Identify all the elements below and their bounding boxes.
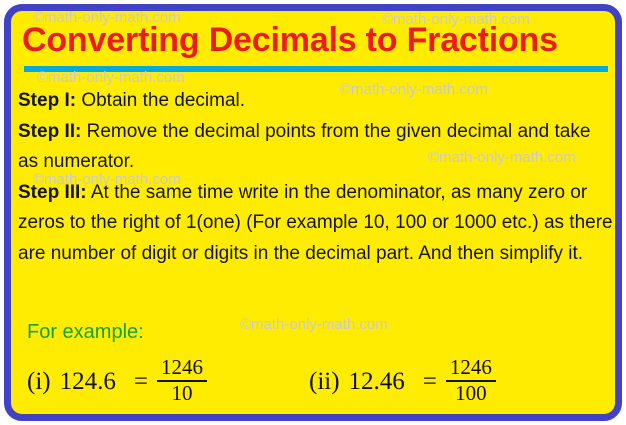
example-index: (ii) [309,368,340,396]
fraction-denominator: 100 [451,382,491,405]
card-content: Converting Decimals to Fractions Step I:… [0,0,626,425]
example-equals: = [414,368,446,396]
examples-row: (i) 124.6 = 1246 10 (ii) 12.46 = 1246 10… [24,358,604,414]
fraction-numerator: 1246 [157,357,207,380]
fraction: 1246 10 [157,357,207,405]
steps-list: Step I: Obtain the decimal. Step II: Rem… [18,86,614,269]
fraction-denominator: 10 [167,382,196,405]
fraction: 1246 100 [446,357,496,405]
example-item-1: (i) 124.6 = 1246 10 [27,358,207,406]
step-item: Step III: At the same time write in the … [18,178,614,270]
example-index: (i) [27,368,51,396]
example-item-2: (ii) 12.46 = 1246 100 [309,358,496,406]
image-canvas: Converting Decimals to Fractions Step I:… [0,0,626,425]
step-text: At the same time write in the denominato… [18,182,613,264]
example-decimal: 12.46 [340,368,414,396]
step-item: Step I: Obtain the decimal. [18,86,614,117]
step-label: Step III: [18,182,87,203]
example-decimal: 124.6 [51,368,125,396]
step-text: Obtain the decimal. [76,90,245,111]
page-title: Converting Decimals to Fractions [22,19,612,61]
for-example-heading: For example: [27,320,144,344]
step-text: Remove the decimal points from the given… [18,121,590,173]
step-item: Step II: Remove the decimal points from … [18,117,614,178]
example-equals: = [125,368,157,396]
step-label: Step I: [18,90,76,111]
step-label: Step II: [18,121,81,142]
fraction-numerator: 1246 [446,357,496,380]
title-divider [24,66,608,72]
